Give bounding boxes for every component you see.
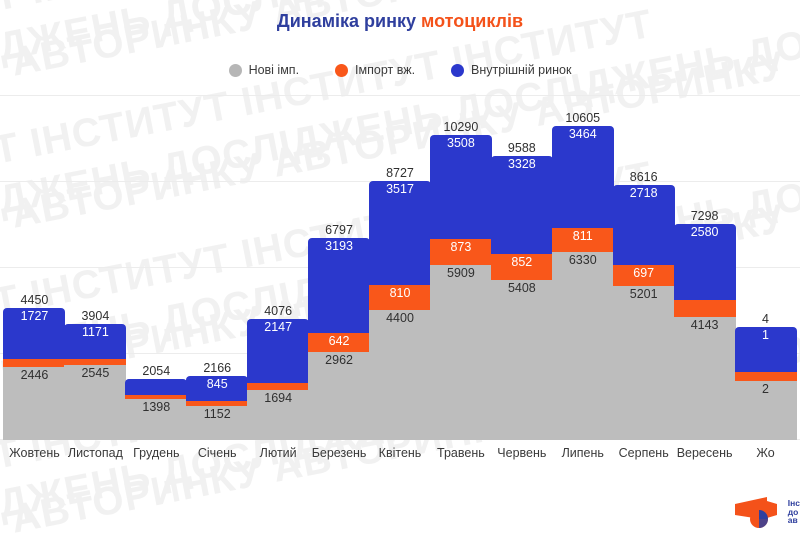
bar-segment-new_import: 2545: [64, 365, 126, 440]
bar-stack: 8451152: [186, 376, 248, 440]
legend-item-used_import[interactable]: Імпорт вж.: [335, 63, 415, 77]
bar-segment-label: 2147: [264, 320, 292, 334]
bar-stack: 31936422962: [308, 238, 370, 440]
bar-segment-label: 3193: [325, 239, 353, 253]
chart-title-primary: Динаміка ринку: [277, 11, 416, 31]
bar-stack: 35178104400: [369, 181, 431, 440]
bar-total-label: 2166: [203, 361, 231, 375]
legend-swatch-icon: [229, 64, 242, 77]
bar-segment-label: 1: [762, 328, 769, 342]
bar-segment-used_import: 810: [369, 285, 431, 309]
x-axis-labels: ЖовтеньЛистопадГруденьСіченьЛютийБерезен…: [0, 446, 800, 460]
bar-segment-new_import: 2446: [3, 367, 65, 440]
bar-segment-label: 811: [573, 229, 593, 243]
bar-column[interactable]: 412: [735, 96, 796, 440]
bar-segment-domestic: 3517: [369, 181, 431, 285]
bar-segment-domestic: 2580: [674, 224, 736, 301]
x-axis-tick-label: Серпень: [613, 446, 674, 460]
bar-segment-label: 810: [390, 286, 411, 300]
legend-swatch-icon: [335, 64, 348, 77]
bar-total-label: 8727: [386, 166, 414, 180]
bar-segment-domestic: 1171: [64, 324, 126, 359]
x-axis-tick-label: Жо: [735, 446, 796, 460]
bar-segment-domestic: [125, 379, 187, 395]
bar-segment-label: 1171: [82, 325, 109, 339]
bar-segment-domestic: 1: [735, 327, 797, 371]
bar-segment-domestic: 2147: [247, 319, 309, 383]
bar-total-label: 6797: [325, 223, 353, 237]
bar-segment-label: 5201: [630, 287, 658, 301]
bar-total-label: 9588: [508, 141, 536, 155]
x-axis-tick-label: Лютий: [248, 446, 309, 460]
bar-segment-used_import: 697: [613, 265, 675, 286]
bar-column[interactable]: 21668451152: [187, 96, 248, 440]
bar-segment-label: 1694: [264, 391, 292, 405]
bar-total-label: 4450: [21, 293, 49, 307]
bar-segment-new_import: 5909: [430, 265, 492, 440]
legend-swatch-icon: [451, 64, 464, 77]
bar-segment-label: 1398: [142, 400, 170, 414]
bar-segment-used_import: 852: [491, 254, 553, 279]
chart-title: Динаміка ринку мотоциклів: [0, 11, 800, 32]
bar-stack: 1398: [125, 379, 187, 440]
bar-segment-new_import: 1152: [186, 406, 248, 440]
bar-segment-new_import: 5201: [613, 286, 675, 440]
bar-segment-domestic: 3193: [308, 238, 370, 333]
x-axis-tick-label: Червень: [491, 446, 552, 460]
bar-segment-label: 3328: [508, 157, 536, 171]
logo-wordmark: Інс до ав: [788, 499, 800, 526]
x-axis-tick-label: Грудень: [126, 446, 187, 460]
bar-segment-label: 845: [207, 377, 228, 391]
x-axis-tick-label: Липень: [552, 446, 613, 460]
bar-segment-used_import: 642: [308, 333, 370, 352]
bar-segment-domestic: 1727: [3, 308, 65, 359]
bar-segment-used_import: 811: [552, 228, 614, 252]
bar-segment-used_import: [674, 300, 736, 317]
bar-stack: 27186975201: [613, 185, 675, 441]
bar-segment-label: 5909: [447, 266, 475, 280]
legend-item-label: Нові імп.: [249, 63, 299, 77]
bar-segment-domestic: 845: [186, 376, 248, 401]
bar-segment-label: 2446: [21, 368, 49, 382]
bar-column[interactable]: 407621471694: [248, 96, 309, 440]
bar-series-group: 4450172724463904117125452054139821668451…: [0, 96, 800, 440]
bar-column[interactable]: 20541398: [126, 96, 187, 440]
bar-total-label: 10290: [444, 120, 479, 134]
chart-legend: Нові імп.Імпорт вж.Внутрішній ринок: [0, 63, 800, 77]
bar-stack: 25804143: [674, 224, 736, 440]
bar-segment-domestic: 3508: [430, 135, 492, 239]
bar-segment-new_import: 5408: [491, 280, 553, 440]
bar-column[interactable]: 1060534648116330: [552, 96, 613, 440]
bar-segment-new_import: 6330: [552, 252, 614, 440]
chart-canvas: ІНСТИТУТ ІНСТИТУТ ІНСТИТУТ ІНСТИТУТ ДОСЛ…: [0, 0, 800, 533]
legend-item-new_import[interactable]: Нові імп.: [229, 63, 299, 77]
x-axis-tick-label: Квітень: [370, 446, 431, 460]
bar-segment-label: 4400: [386, 311, 414, 325]
bar-segment-label: 2580: [691, 225, 719, 239]
bar-stack: 34648116330: [552, 126, 614, 440]
bar-segment-used_import: [3, 359, 65, 367]
x-axis-tick-label: Травень: [430, 446, 491, 460]
bar-column[interactable]: 390411712545: [65, 96, 126, 440]
bar-segment-label: 1152: [204, 407, 231, 421]
bar-segment-used_import: [247, 383, 309, 390]
bar-total-label: 10605: [565, 111, 600, 125]
bar-segment-domestic: 2718: [613, 185, 675, 266]
bar-column[interactable]: 1029035088735909: [430, 96, 491, 440]
bar-segment-label: 3464: [569, 127, 597, 141]
x-axis-tick-label: Вересень: [674, 446, 735, 460]
bar-segment-label: 642: [329, 334, 350, 348]
bar-segment-label: 2: [762, 382, 769, 396]
x-axis-tick-label: Січень: [187, 446, 248, 460]
bar-segment-label: 3508: [447, 136, 475, 150]
bar-total-label: 8616: [630, 170, 658, 184]
bar-segment-domestic: 3328: [491, 156, 553, 255]
bar-segment-used_import: [735, 372, 797, 381]
brand-logo: Інс до ав: [733, 495, 800, 529]
bar-segment-new_import: 1398: [125, 399, 187, 440]
bar-stack: 17272446: [3, 308, 65, 440]
bar-column[interactable]: 958833288525408: [491, 96, 552, 440]
bar-segment-label: 2545: [81, 366, 109, 380]
bar-segment-label: 1727: [21, 309, 49, 323]
bar-segment-new_import: 2: [735, 381, 797, 440]
x-axis-tick-label: Березень: [309, 446, 370, 460]
bar-total-label: 3904: [81, 309, 109, 323]
bar-total-label: 4: [762, 312, 769, 326]
bar-segment-new_import: 1694: [247, 390, 309, 440]
x-axis-tick-label: Жовтень: [4, 446, 65, 460]
chart-title-highlight: мотоциклів: [421, 11, 523, 31]
bar-segment-label: 6330: [569, 253, 597, 267]
bar-stack: 33288525408: [491, 156, 553, 440]
bar-segment-used_import: 873: [430, 239, 492, 265]
bar-column[interactable]: 679731936422962: [309, 96, 370, 440]
logo-mark-icon: [733, 495, 783, 529]
x-axis-tick-label: Листопад: [65, 446, 126, 460]
bar-stack: 11712545: [64, 324, 126, 440]
bar-stack: 12: [735, 327, 797, 440]
bar-segment-label: 697: [633, 266, 654, 280]
bar-column[interactable]: 861627186975201: [613, 96, 674, 440]
bar-column[interactable]: 729825804143: [674, 96, 735, 440]
bar-stack: 21471694: [247, 319, 309, 440]
bar-total-label: 4076: [264, 304, 292, 318]
bar-segment-label: 4143: [691, 318, 719, 332]
bar-segment-label: 5408: [508, 281, 536, 295]
bar-segment-label: 2718: [630, 186, 658, 200]
bar-segment-label: 873: [450, 240, 471, 254]
plot-area: 4450172724463904117125452054139821668451…: [0, 96, 800, 440]
bar-segment-label: 2962: [325, 353, 353, 367]
bar-column[interactable]: 872735178104400: [370, 96, 431, 440]
megaphone-pie-icon: [733, 495, 783, 529]
bar-segment-new_import: 4400: [369, 310, 431, 440]
bar-total-label: 7298: [691, 209, 719, 223]
bar-column[interactable]: 445017272446: [4, 96, 65, 440]
legend-item-label: Внутрішній ринок: [471, 63, 571, 77]
legend-item-domestic[interactable]: Внутрішній ринок: [451, 63, 571, 77]
bar-stack: 35088735909: [430, 135, 492, 440]
logo-line-3: ав: [788, 516, 800, 525]
bar-segment-new_import: 2962: [308, 352, 370, 440]
bar-segment-label: 852: [511, 255, 532, 269]
bar-segment-domestic: 3464: [552, 126, 614, 229]
bar-segment-new_import: 4143: [674, 317, 736, 440]
legend-item-label: Імпорт вж.: [355, 63, 415, 77]
bar-total-label: 2054: [142, 364, 170, 378]
bar-segment-label: 3517: [386, 182, 414, 196]
